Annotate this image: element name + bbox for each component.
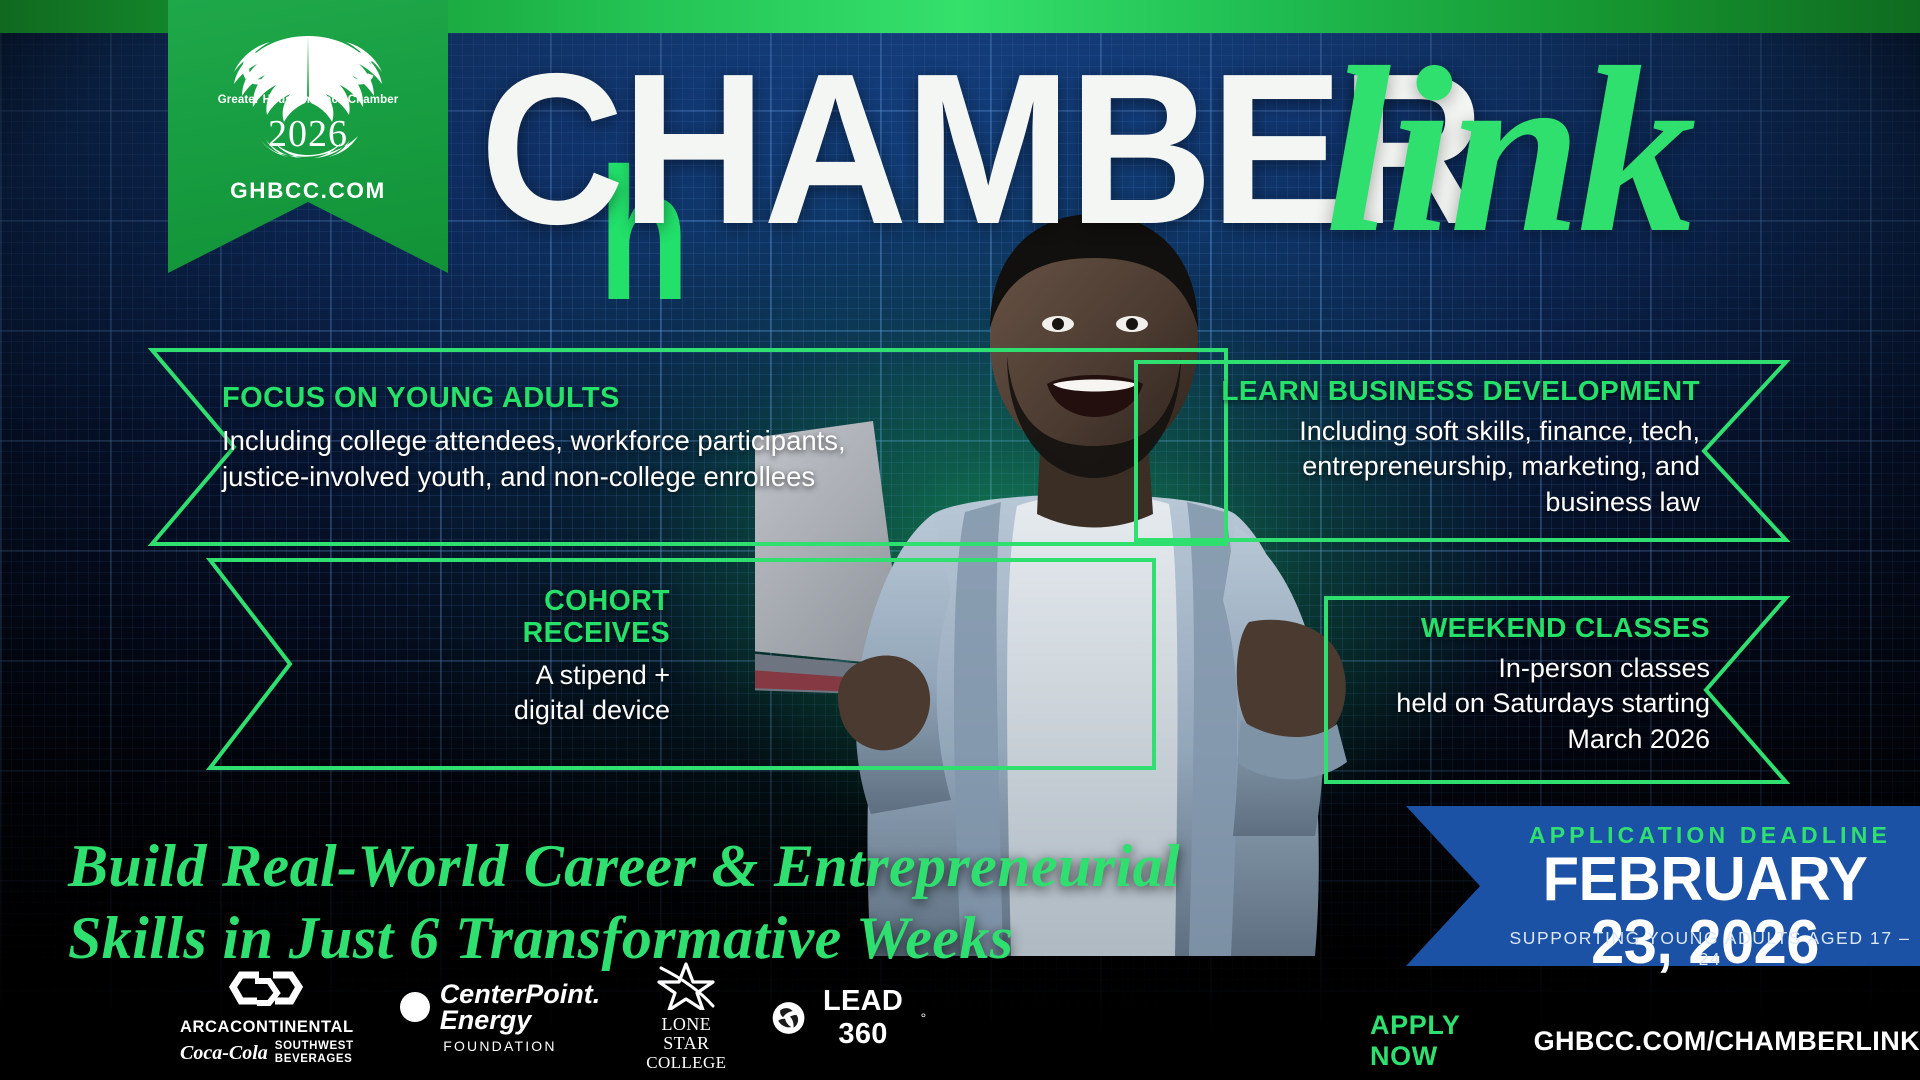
- feature-heading: LEARN BUSINESS DEVELOPMENT: [1190, 375, 1700, 406]
- sponsor-foundation-label: FOUNDATION: [400, 1038, 601, 1054]
- lead360-globe-icon: [772, 994, 805, 1042]
- page-title: h CHAMBER link: [480, 52, 1780, 267]
- sponsor-subline-1: SOUTHWEST: [275, 1040, 354, 1053]
- feature-line: Including college attendees, workforce p…: [222, 423, 902, 459]
- ghbc-abbrev: GHBC: [208, 46, 408, 91]
- sponsor-name-centerpoint: CenterPoint.: [440, 981, 601, 1007]
- feature-heading: COHORT: [420, 586, 670, 618]
- feature-text-focus-on-young-adults: FOCUS ON YOUNG ADULTS Including college …: [222, 382, 902, 495]
- feature-line: March 2026: [1230, 722, 1710, 757]
- feature-line: held on Saturdays starting: [1230, 686, 1710, 721]
- feature-heading: FOCUS ON YOUNG ADULTS: [222, 382, 902, 414]
- poster-canvas: GHBC Greater Houston Black Chamber 2026 …: [0, 0, 1920, 1080]
- ghbc-full-name: Greater Houston Black Chamber: [208, 94, 408, 106]
- sponsor-name: ARCACONTINENTAL: [180, 1018, 354, 1037]
- tagline: Build Real-World Career & Entrepreneuria…: [68, 830, 1248, 974]
- arca-chain-icon: [229, 969, 305, 1009]
- feature-line: business law: [1190, 485, 1700, 520]
- laurel-wreath-icon: GHBC Greater Houston Black Chamber 2026: [208, 22, 408, 172]
- feature-text-cohort-receives: COHORT RECEIVES A stipend + digital devi…: [420, 586, 670, 728]
- sponsor-name-college: COLLEGE: [646, 1053, 726, 1073]
- feature-line: justice-involved youth, and non-college …: [222, 459, 902, 495]
- sponsor-name-lead360: LEAD 360: [816, 985, 911, 1051]
- title-word-link: link: [1325, 44, 1693, 258]
- feature-line: A stipend +: [420, 658, 670, 693]
- sponsor-lead-360: LEAD 360 °: [772, 985, 926, 1051]
- sponsor-name-energy: Energy: [440, 1007, 601, 1034]
- ghbc-year: 2026: [208, 112, 408, 156]
- sponsor-degree-symbol: °: [921, 1010, 927, 1026]
- feature-line: entrepreneurship, marketing, and: [1190, 449, 1700, 484]
- sponsor-lone-star-college: LONE STAR COLLEGE: [646, 962, 726, 1073]
- apply-now-label: APPLY NOW: [1370, 1010, 1518, 1072]
- feature-heading: WEEKEND CLASSES: [1230, 612, 1710, 643]
- centerpoint-dot-icon: [400, 990, 434, 1024]
- feature-line: digital device: [420, 693, 670, 728]
- sponsor-name-lone-star: LONE STAR: [646, 1015, 726, 1053]
- sponsor-arca-continental-coca-cola: ARCACONTINENTAL Coca-Cola SOUTHWEST BEVE…: [180, 969, 354, 1066]
- sponsor-centerpoint-energy-foundation: CenterPoint. Energy FOUNDATION: [400, 981, 601, 1054]
- feature-text-learn-business-development: LEARN BUSINESS DEVELOPMENT Including sof…: [1190, 375, 1700, 520]
- ghbc-url: GHBCC.COM: [230, 178, 386, 204]
- sponsor-logos: ARCACONTINENTAL Coca-Cola SOUTHWEST BEVE…: [180, 965, 900, 1070]
- apply-now-bar[interactable]: APPLY NOW GHBCC.COM/CHAMBERLINK: [1370, 1010, 1920, 1072]
- sponsor-subname-coca-cola: Coca-Cola: [180, 1042, 268, 1065]
- feature-line: In-person classes: [1230, 651, 1710, 686]
- feature-line: Including soft skills, finance, tech,: [1190, 414, 1700, 449]
- application-deadline-panel: APPLICATION DEADLINE FEBRUARY 23, 2026 S…: [1310, 806, 1920, 966]
- feature-text-weekend-classes: WEEKEND CLASSES In-person classes held o…: [1230, 612, 1710, 757]
- feature-heading-second-line: RECEIVES: [420, 618, 670, 650]
- tagline-line-1: Build Real-World Career & Entrepreneuria…: [68, 830, 1248, 902]
- ribbon-cohort-receives: [198, 556, 1158, 772]
- lone-star-icon: [655, 962, 717, 1010]
- apply-url[interactable]: GHBCC.COM/CHAMBERLINK: [1534, 1026, 1920, 1057]
- deadline-subtitle: SUPPORTING YOUNG ADULTS AGED 17 – 24: [1500, 928, 1920, 970]
- sponsor-subline-2: BEVERAGES: [275, 1053, 354, 1066]
